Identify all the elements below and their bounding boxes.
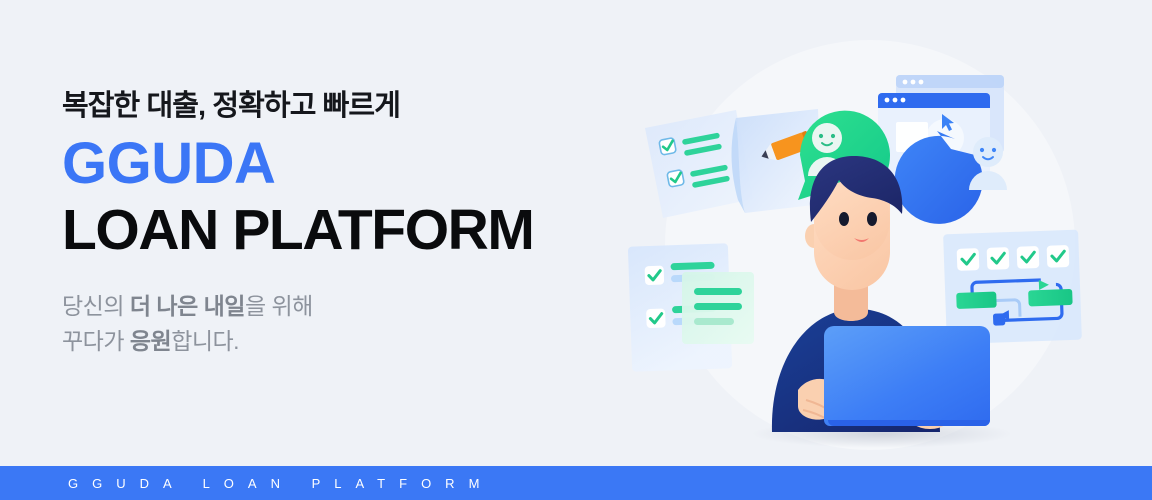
tagline-line1-post: 을 위해 (245, 293, 313, 319)
tagline-line2-post: 합니다. (171, 328, 239, 354)
tagline-line1-emphasis: 더 나은 내일 (130, 293, 245, 319)
tagline-line2-pre: 꾸다가 (62, 328, 130, 354)
hero-tagline: 당신의 더 나은 내일을 위해 꾸다가 응원합니다. (62, 289, 622, 359)
person-eye-left (839, 212, 849, 226)
tagline-line-2: 꾸다가 응원합니다. (62, 324, 622, 359)
bottom-ribbon: GGUDA LOAN PLATFORM (0, 466, 1152, 500)
tagline-line1-pre: 당신의 (62, 293, 130, 319)
hero-eyebrow: 복잡한 대출, 정확하고 빠르게 (62, 88, 622, 124)
hero-product-name: LOAN PLATFORM (62, 197, 622, 263)
hero-banner: 복잡한 대출, 정확하고 빠르게 GGUDA LOAN PLATFORM 당신의… (0, 0, 1152, 500)
hero-illustration (620, 0, 1152, 466)
ribbon-label: GGUDA LOAN PLATFORM (0, 476, 493, 491)
tagline-line-1: 당신의 더 나은 내일을 위해 (62, 289, 622, 324)
tagline-line2-emphasis: 응원 (130, 328, 171, 354)
mint-note-card (682, 272, 754, 344)
hero-copy-block: 복잡한 대출, 정확하고 빠르게 GGUDA LOAN PLATFORM 당신의… (62, 88, 622, 359)
person-eye-right (867, 212, 877, 226)
laptop (824, 326, 990, 426)
hero-brand-name: GGUDA (62, 132, 622, 197)
